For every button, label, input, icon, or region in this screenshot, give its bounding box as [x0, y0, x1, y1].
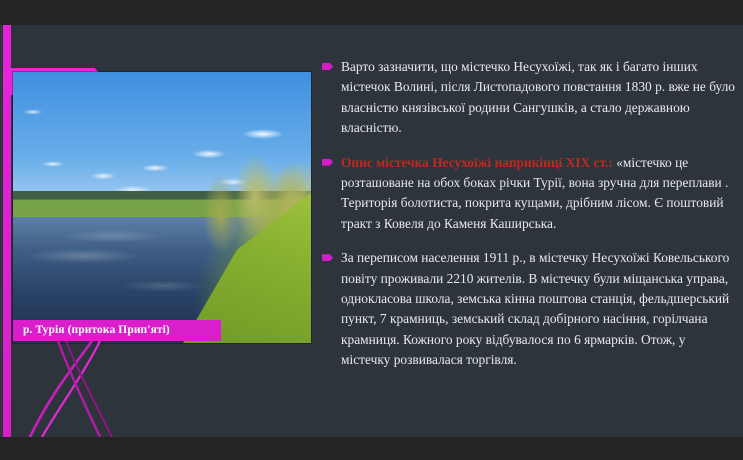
list-item: За переписом населення 1911 р., в містеч…: [322, 248, 738, 370]
list-item: Опис містечка Несухоїжі наприкінці XIX с…: [322, 153, 738, 235]
arrow-bullet-icon: [322, 63, 333, 70]
bullet-paragraph-2: Опис містечка Несухоїжі наприкінці XIX с…: [341, 153, 738, 235]
magenta-swoosh-curves-decoration: [0, 341, 210, 437]
arrow-bullet-icon: [322, 159, 333, 166]
slide-canvas: р. Турія (притока Прип'яті) Варто зазнач…: [0, 25, 743, 437]
arrow-bullet-icon: [322, 254, 333, 261]
bullet-paragraph-1: Варто зазначити, що містечко Несухоїжі, …: [341, 57, 738, 139]
bullet-content-column: Варто зазначити, що містечко Несухоїжі, …: [322, 57, 738, 385]
bullet-2-red-heading: Опис містечка Несухоїжі наприкінці XIX с…: [341, 155, 613, 170]
photo-caption: р. Турія (притока Прип'яті): [13, 320, 221, 341]
slide-root: р. Турія (притока Прип'яті) Варто зазнач…: [0, 0, 743, 460]
bullet-paragraph-3: За переписом населення 1911 р., в містеч…: [341, 248, 738, 370]
river-landscape-photo: [13, 72, 311, 343]
list-item: Варто зазначити, що містечко Несухоїжі, …: [322, 57, 738, 139]
